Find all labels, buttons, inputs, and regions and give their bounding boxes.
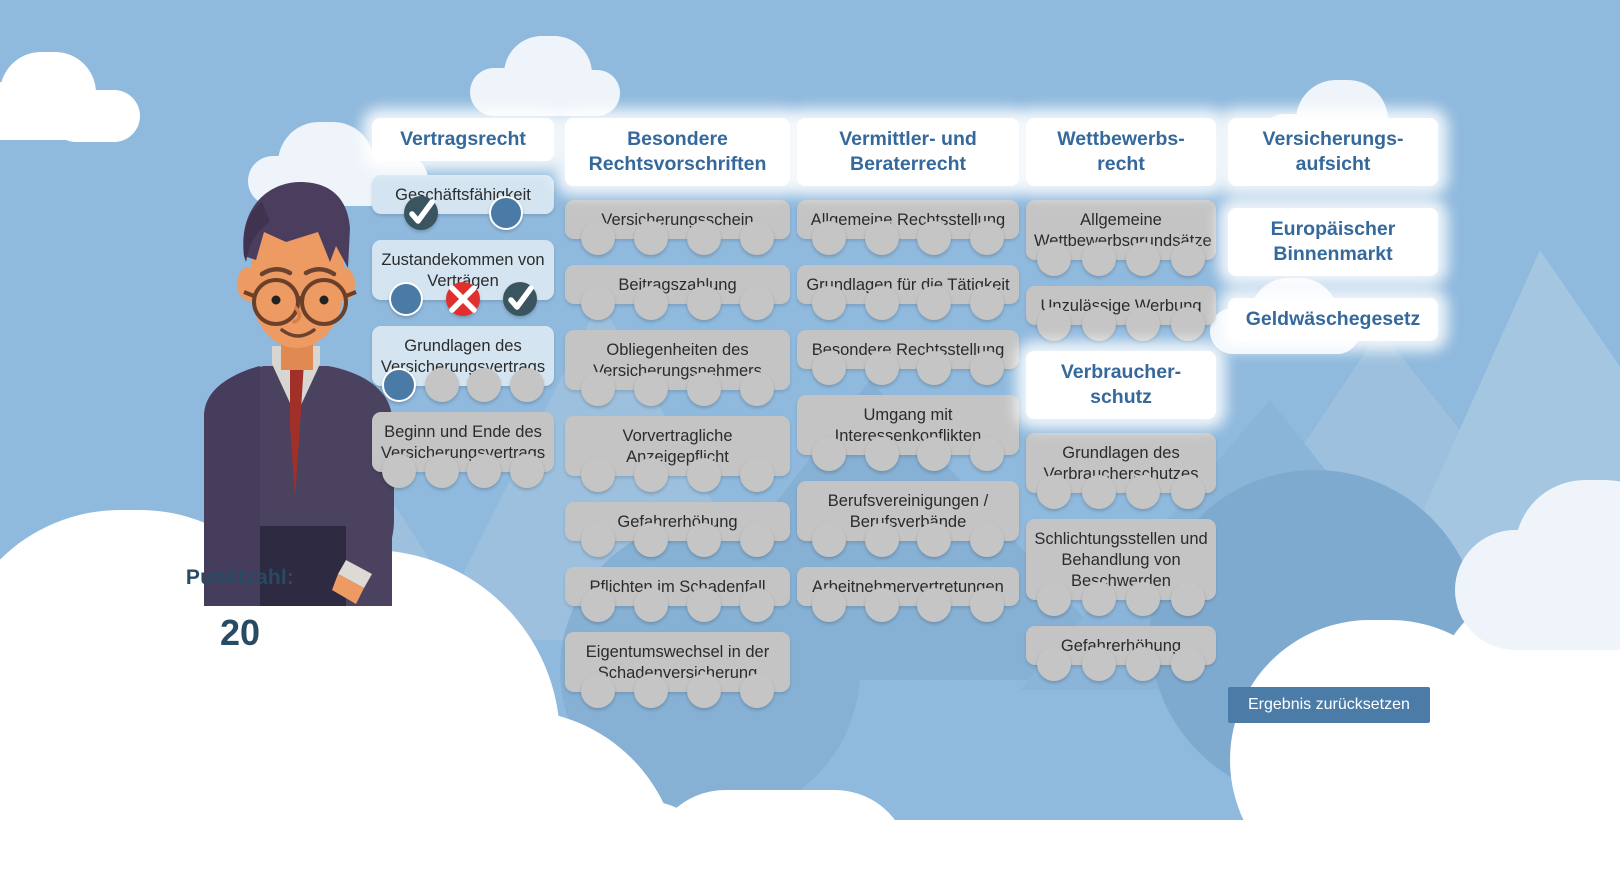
progress-dot-empty[interactable] (634, 458, 668, 492)
progress-dot-empty[interactable] (917, 221, 951, 255)
topic-card[interactable]: Grundlagen für die Tätigkeit (797, 265, 1019, 304)
topic-card[interactable]: Grundlagen des Verbraucherschutzes (1026, 433, 1216, 493)
progress-dot-empty[interactable] (510, 454, 544, 488)
progress-dot-empty[interactable] (917, 437, 951, 471)
progress-dot-empty[interactable] (740, 674, 774, 708)
progress-dot-empty[interactable] (1171, 582, 1205, 616)
category-title-text: Wettbewerbs-recht (1057, 127, 1185, 177)
progress-dot-empty[interactable] (812, 588, 846, 622)
progress-dot-empty[interactable] (917, 286, 951, 320)
progress-dot-correct[interactable] (404, 196, 438, 230)
topic-card[interactable]: Zustandekommen von Verträgen (372, 240, 554, 300)
progress-dot-empty[interactable] (425, 368, 459, 402)
category-title-extra-0[interactable]: Europäischer Binnenmarkt (1228, 208, 1438, 276)
progress-dot-empty[interactable] (1037, 307, 1071, 341)
progress-dot-empty[interactable] (812, 351, 846, 385)
progress-dot-empty[interactable] (917, 523, 951, 557)
progress-dot-empty[interactable] (812, 437, 846, 471)
topic-board: VertragsrechtGeschäftsfähigkeitZustandek… (0, 0, 1620, 871)
progress-dot-empty[interactable] (1171, 475, 1205, 509)
topic-progress-dots (797, 588, 1019, 622)
topic-progress-dots (565, 523, 790, 557)
topic-card[interactable]: Geschäftsfähigkeit (372, 175, 554, 214)
topic-progress-dots (372, 454, 554, 488)
progress-dot-empty[interactable] (865, 437, 899, 471)
progress-dot-empty[interactable] (1126, 475, 1160, 509)
progress-dot-blue[interactable] (382, 368, 416, 402)
topic-progress-dots (565, 221, 790, 255)
category-title-vermittler-und-beraterrecht[interactable]: Vermittler- und Beraterrecht (797, 118, 1019, 186)
progress-dot-empty[interactable] (865, 523, 899, 557)
topic-card[interactable]: Unzulässige Werbung (1026, 286, 1216, 325)
progress-dot-empty[interactable] (917, 351, 951, 385)
topic-card[interactable]: Besondere Rechtsstellung (797, 330, 1019, 369)
topic-progress-dots (565, 458, 790, 492)
topic-card[interactable]: Beitragszahlung (565, 265, 790, 304)
topic-card[interactable]: Beginn und Ende des Versicherungsvertrag… (372, 412, 554, 472)
topic-progress-dots (1026, 475, 1216, 509)
topic-progress-dots (1026, 647, 1216, 681)
topic-card[interactable]: Gefahrerhöhung (565, 502, 790, 541)
progress-dot-empty[interactable] (687, 674, 721, 708)
progress-dot-empty[interactable] (865, 588, 899, 622)
progress-dot-empty[interactable] (740, 588, 774, 622)
score-label: Punktzahl: (110, 566, 370, 590)
topic-card[interactable]: Schlichtungsstellen und Behandlung von B… (1026, 519, 1216, 600)
progress-dot-empty[interactable] (1037, 475, 1071, 509)
progress-dot-empty[interactable] (865, 351, 899, 385)
progress-dot-empty[interactable] (740, 523, 774, 557)
topic-progress-dots (797, 351, 1019, 385)
category-title-extra-1[interactable]: Geldwäschegesetz (1228, 298, 1438, 341)
progress-dot-empty[interactable] (581, 523, 615, 557)
check-icon (503, 282, 537, 316)
topic-progress-dots (797, 437, 1019, 471)
category-title-text: Besondere Rechtsvorschriften (571, 127, 784, 177)
reset-result-button[interactable]: Ergebnis zurücksetzen (1228, 687, 1430, 723)
progress-dot-empty[interactable] (581, 286, 615, 320)
progress-dot-empty[interactable] (1126, 647, 1160, 681)
progress-dot-blue[interactable] (489, 196, 523, 230)
progress-dot-empty[interactable] (1082, 475, 1116, 509)
check-icon (404, 196, 438, 230)
category-title-besondere-rechtsvorschriften[interactable]: Besondere Rechtsvorschriften (565, 118, 790, 186)
category-column-besondere-rechtsvorschriften: Besondere RechtsvorschriftenVersicherung… (565, 118, 790, 718)
category-column-versicherungsaufsicht: Versicherungs-aufsichtEuropäischer Binne… (1228, 118, 1438, 341)
progress-dot-empty[interactable] (812, 523, 846, 557)
progress-dot-empty[interactable] (1037, 582, 1071, 616)
topic-progress-dots (372, 282, 554, 316)
progress-dot-empty[interactable] (865, 286, 899, 320)
topic-progress-dots (1026, 582, 1216, 616)
category-title-text: Verbraucher-schutz (1061, 360, 1181, 410)
topic-progress-dots (797, 286, 1019, 320)
progress-dot-empty[interactable] (970, 286, 1004, 320)
progress-dot-empty[interactable] (634, 523, 668, 557)
score-block: Punktzahl: 20 (110, 566, 370, 654)
progress-dot-empty[interactable] (634, 286, 668, 320)
progress-dot-empty[interactable] (687, 523, 721, 557)
progress-dot-empty[interactable] (581, 458, 615, 492)
topic-progress-dots (565, 674, 790, 708)
progress-dot-blue[interactable] (389, 282, 423, 316)
topic-card[interactable]: Arbeitnehmervertretungen (797, 567, 1019, 606)
topic-progress-dots (1026, 307, 1216, 341)
progress-dot-empty[interactable] (1082, 307, 1116, 341)
progress-dot-empty[interactable] (740, 221, 774, 255)
progress-dot-empty[interactable] (1171, 647, 1205, 681)
topic-card[interactable]: Allgemeine Wettbewerbsgrundsätze (1026, 200, 1216, 260)
progress-dot-empty[interactable] (1171, 307, 1205, 341)
progress-dot-empty[interactable] (687, 372, 721, 406)
category-column-vermittler-und-beraterrecht: Vermittler- und BeraterrechtAllgemeine R… (797, 118, 1019, 632)
progress-dot-correct[interactable] (503, 282, 537, 316)
progress-dot-empty[interactable] (634, 674, 668, 708)
category-title-vertragsrecht[interactable]: Vertragsrecht (372, 118, 554, 161)
progress-dot-empty[interactable] (687, 458, 721, 492)
topic-progress-dots (1026, 242, 1216, 276)
topic-card[interactable]: Pflichten im Schadenfall (565, 567, 790, 606)
progress-dot-empty[interactable] (1037, 242, 1071, 276)
progress-dot-empty[interactable] (634, 588, 668, 622)
category-title-text: Geldwäschegesetz (1246, 307, 1421, 332)
progress-dot-empty[interactable] (917, 588, 951, 622)
progress-dot-empty[interactable] (581, 588, 615, 622)
progress-dot-empty[interactable] (740, 372, 774, 406)
category-title-text: Vermittler- und Beraterrecht (803, 127, 1013, 177)
topic-progress-dots (565, 372, 790, 406)
topic-progress-dots (565, 286, 790, 320)
topic-card[interactable]: Gefahrerhöhung (1026, 626, 1216, 665)
progress-dot-empty[interactable] (812, 221, 846, 255)
progress-dot-empty[interactable] (467, 454, 501, 488)
topic-card[interactable]: Umgang mit Interessenkonflikten (797, 395, 1019, 455)
progress-dot-empty[interactable] (740, 458, 774, 492)
category-column-wettbewerbsrecht: Wettbewerbs-rechtAllgemeine Wettbewerbsg… (1026, 118, 1216, 691)
topic-card[interactable]: Versicherungsschein (565, 200, 790, 239)
category-title-text: Versicherungs-aufsicht (1263, 127, 1404, 177)
progress-dot-empty[interactable] (970, 437, 1004, 471)
topic-card[interactable]: Grundlagen des Versicherungsvertrags (372, 326, 554, 386)
progress-dot-empty[interactable] (425, 454, 459, 488)
category-column-vertragsrecht: VertragsrechtGeschäftsfähigkeitZustandek… (372, 118, 554, 498)
progress-dot-empty[interactable] (581, 674, 615, 708)
topic-card[interactable]: Vorvertragliche Anzeigepflicht (565, 416, 790, 476)
topic-progress-dots (797, 523, 1019, 557)
progress-dot-empty[interactable] (1126, 242, 1160, 276)
category-title-versicherungsaufsicht[interactable]: Versicherungs-aufsicht (1228, 118, 1438, 186)
progress-dot-empty[interactable] (812, 286, 846, 320)
score-value: 20 (110, 612, 370, 654)
category-title-text: Vertragsrecht (400, 127, 526, 152)
progress-dot-empty[interactable] (1126, 582, 1160, 616)
progress-dot-empty[interactable] (687, 221, 721, 255)
cross-icon (446, 282, 480, 316)
progress-dot-empty[interactable] (865, 221, 899, 255)
progress-dot-wrong[interactable] (446, 282, 480, 316)
progress-dot-empty[interactable] (634, 221, 668, 255)
progress-dot-empty[interactable] (1037, 647, 1071, 681)
progress-dot-empty[interactable] (970, 523, 1004, 557)
progress-dot-empty[interactable] (1082, 582, 1116, 616)
topic-card[interactable]: Obliegenheiten des Versicherungsnehmers (565, 330, 790, 390)
progress-dot-empty[interactable] (1082, 242, 1116, 276)
learning-map-canvas: Punktzahl: 20 VertragsrechtGeschäftsfähi… (0, 0, 1620, 871)
topic-card[interactable]: Allgemeine Rechtsstellung (797, 200, 1019, 239)
progress-dot-empty[interactable] (1082, 647, 1116, 681)
progress-dot-empty[interactable] (687, 286, 721, 320)
topic-card[interactable]: Eigentumswechsel in der Schadenversicher… (565, 632, 790, 692)
topic-card[interactable]: Berufsvereinigungen / Berufsverbände (797, 481, 1019, 541)
topic-progress-dots (565, 588, 790, 622)
progress-dot-empty[interactable] (970, 588, 1004, 622)
topic-progress-dots (372, 196, 554, 230)
progress-dot-empty[interactable] (581, 372, 615, 406)
progress-dot-empty[interactable] (740, 286, 774, 320)
progress-dot-empty[interactable] (634, 372, 668, 406)
progress-dot-empty[interactable] (467, 368, 501, 402)
category-title-wettbewerbsrecht[interactable]: Wettbewerbs-recht (1026, 118, 1216, 186)
progress-dot-empty[interactable] (382, 454, 416, 488)
progress-dot-empty[interactable] (687, 588, 721, 622)
progress-dot-empty[interactable] (1126, 307, 1160, 341)
category-title-text: Europäischer Binnenmarkt (1234, 217, 1432, 267)
topic-progress-dots (372, 368, 554, 402)
progress-dot-empty[interactable] (970, 351, 1004, 385)
progress-dot-empty[interactable] (510, 368, 544, 402)
category-title-verbraucherschutz[interactable]: Verbraucher-schutz (1026, 351, 1216, 419)
progress-dot-empty[interactable] (1171, 242, 1205, 276)
progress-dot-empty[interactable] (970, 221, 1004, 255)
progress-dot-empty[interactable] (581, 221, 615, 255)
topic-progress-dots (797, 221, 1019, 255)
